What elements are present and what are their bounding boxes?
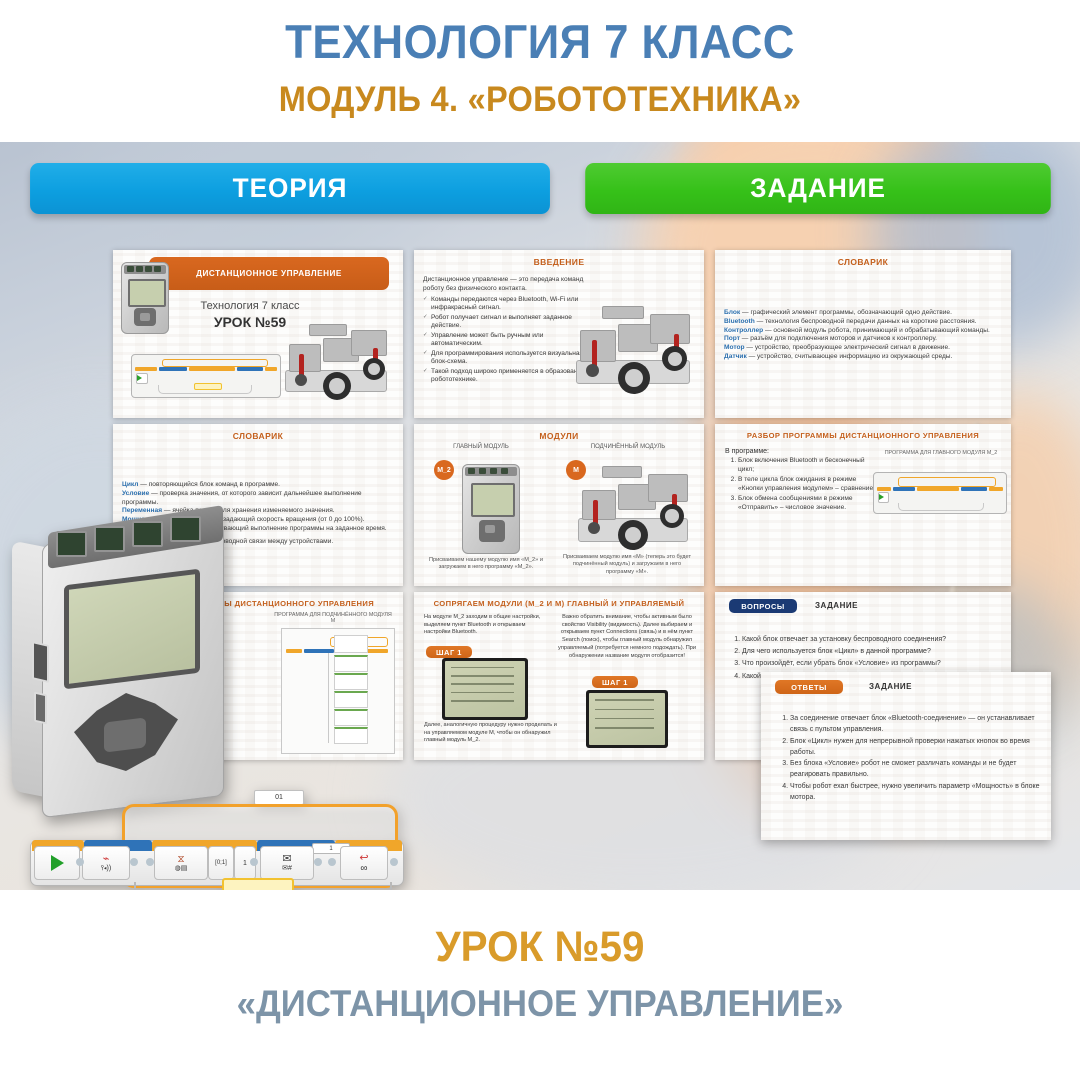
slide-title-course: Технология 7 класс: [175, 300, 325, 312]
glossary-entry: Датчик — устройство, считывающее информа…: [724, 353, 1002, 362]
robot-illustration: [281, 318, 393, 403]
program-diagram-slave: [281, 628, 395, 754]
slide-intro-bullets: Команды передаются через Bluetooth, Wi-F…: [423, 296, 591, 386]
list-item: Чтобы робот ехал быстрее, нужно увеличит…: [790, 782, 1051, 804]
slide-pairing-right-text: Важно обратить внимание, чтобы активным …: [558, 614, 696, 660]
message-number-icon: ✉#: [282, 865, 292, 872]
ev3-brick-main-icon: [462, 464, 520, 554]
program-ribbon-mini: [131, 354, 281, 398]
list-item: Такой подход широко применяется в образо…: [423, 368, 591, 386]
robot-illustration: [574, 462, 692, 554]
slide-intro-lead: Дистанционное управление — это передача …: [423, 276, 591, 294]
program-diagram-main: [873, 472, 1007, 514]
slide-program-main-diagram-caption: ПРОГРАММА ДЛЯ ГЛАВНОГО МОДУЛЯ M_2: [881, 450, 1001, 456]
page-title: ТЕХНОЛОГИЯ 7 КЛАСС: [38, 14, 1042, 69]
slide-card-glossary-1[interactable]: СЛОВАРИК Блок — графический элемент прог…: [715, 250, 1011, 418]
footer-lesson-number: УРОК №59: [32, 923, 1047, 972]
footer-lesson-title: «ДИСТАНЦИОННОЕ УПРАВЛЕНИЕ»: [32, 983, 1047, 1025]
questions-badge: ВОПРОСЫ: [729, 599, 797, 613]
answers-list: За соединение отвечает блок «Bluetooth-с…: [777, 714, 1051, 805]
answers-badge-label: ОТВЕТЫ: [791, 683, 827, 692]
slide-modules-left-caption: Присваиваем нашему модулю имя «M_2» и за…: [426, 557, 546, 572]
answers-tab-label: ЗАДАНИЕ: [869, 682, 912, 691]
list-item: Блок обмена сообщениями в режиме «Отправ…: [738, 495, 875, 513]
infinity-icon: ∞: [360, 864, 367, 874]
slide-title-banner-label: ДИСТАНЦИОННОЕ УПРАВЛЕНИЕ: [196, 269, 342, 278]
list-item: Для чего используется блок «Цикл» в данн…: [742, 646, 1010, 657]
glossary-entry: Контроллер — основной модуль робота, при…: [724, 327, 1002, 336]
list-item: Управление может быть ручным или автомат…: [423, 332, 591, 350]
tab-theory[interactable]: ТЕОРИЯ: [30, 163, 550, 214]
step-badge-1: ШАГ 1: [426, 646, 472, 658]
list-item: Блок «Цикл» нужен для непрерывной провер…: [790, 737, 1051, 759]
list-item: Что произойдёт, если убрать блок «Услови…: [742, 658, 1010, 669]
footer: УРОК №59 «ДИСТАНЦИОННОЕ УПРАВЛЕНИЕ»: [0, 890, 1080, 1080]
glossary-entry: Порт — разъём для подключения моторов и …: [724, 335, 1002, 344]
header: ТЕХНОЛОГИЯ 7 КЛАСС МОДУЛЬ 4. «РОБОТОТЕХН…: [0, 0, 1080, 142]
envelope-icon: ✉: [282, 854, 291, 865]
list-item: За соединение отвечает блок «Bluetooth-с…: [790, 714, 1051, 736]
hourglass-icon: ⧖: [177, 855, 184, 865]
glossary-entry: Цикл — повторяющийся блок команд в прогр…: [122, 481, 394, 490]
loop-block[interactable]: ↩ ∞: [340, 846, 388, 880]
slide-intro-title: ВВЕДЕНИЕ: [414, 250, 704, 267]
slide-program-slave-diagram-caption: ПРОГРАММА ДЛЯ ПОДЧИНЁННОГО МОДУЛЯ M: [273, 612, 393, 624]
slide-program-main-lead: В программе:: [725, 448, 875, 455]
slide-modules-left-label: ГЛАВНЫЙ МОДУЛЬ: [426, 444, 536, 450]
answers-badge: ОТВЕТЫ: [775, 680, 843, 694]
questions-tab-label: ЗАДАНИЕ: [815, 601, 858, 610]
list-item: В теле цикла блок ожидания в режиме «Кно…: [738, 476, 875, 494]
slide-card-answers[interactable]: ОТВЕТЫ ЗАДАНИЕ За соединение отвечает бл…: [761, 672, 1051, 840]
ev3-brick-icon: [121, 262, 169, 334]
step-badge-1-label: ШАГ 1: [436, 648, 462, 657]
lesson-poster: ТЕХНОЛОГИЯ 7 КЛАСС МОДУЛЬ 4. «РОБОТОТЕХН…: [0, 0, 1080, 1080]
wait-range-field[interactable]: [0;1]: [208, 846, 234, 880]
bluetooth-block[interactable]: ⌁ ⫯◂)): [82, 846, 130, 880]
glossary-entry: Мотор — устройство, преобразующее электр…: [724, 344, 1002, 353]
list-item: Без блока «Условие» робот не сможет разл…: [790, 759, 1051, 781]
glossary-entry: Bluetooth — технология беспроводной пере…: [724, 318, 1002, 327]
robot-illustration: [572, 302, 696, 398]
ev3-program-strip: 01 1 ⌁ ⫯◂)) ⧖ ◍▤ [0;1] 1 ✉ ✉# ↩ ∞: [22, 790, 410, 900]
message-block[interactable]: ✉ ✉#: [260, 846, 314, 880]
start-block[interactable]: [34, 846, 80, 880]
slide-card-modules[interactable]: МОДУЛИ ГЛАВНЫЙ МОДУЛЬ ПОДЧИНЁННЫЙ МОДУЛЬ…: [414, 424, 704, 586]
tab-task-label: ЗАДАНИЕ: [750, 173, 886, 204]
ev3-brick-large: [12, 515, 240, 815]
slide-modules-title: МОДУЛИ: [414, 424, 704, 441]
slide-pairing-bottom-text: Далее, аналогичную процедуру нужно проде…: [424, 722, 564, 745]
bluetooth-icon: ⌁: [103, 854, 110, 865]
list-item: Робот получает сигнал и выполняет заданн…: [423, 314, 591, 332]
page-subtitle: МОДУЛЬ 4. «РОБОТОТЕХНИКА»: [38, 80, 1042, 120]
wait-block[interactable]: ⧖ ◍▤: [154, 846, 208, 880]
slide-title-banner: ДИСТАНЦИОННОЕ УПРАВЛЕНИЕ: [149, 257, 389, 290]
ev3-screen-photo-1: [442, 658, 528, 720]
slide-glossary1-title: СЛОВАРИК: [715, 250, 1011, 267]
step-badge-2: ШАГ 1: [592, 676, 638, 688]
ev3-screen-photo-2: [586, 690, 668, 748]
slide-modules-right-label: ПОДЧИНЁННЫЙ МОДУЛЬ: [562, 444, 694, 450]
loop-arrow-icon: ↩: [359, 853, 368, 864]
slide-card-title[interactable]: ДИСТАНЦИОННОЕ УПРАВЛЕНИЕ Технология 7 кл…: [113, 250, 403, 418]
slide-glossary2-title: СЛОВАРИК: [113, 424, 403, 441]
glossary-entry: Условие — проверка значения, от которого…: [122, 490, 394, 508]
slide-modules-right-caption: Присваиваем модулю имя «M» (теперь это б…: [560, 554, 694, 576]
slide-program-main-items: Блок включения Bluetooth и бесконечный ц…: [725, 457, 875, 513]
tab-bar: ТЕОРИЯ ЗАДАНИЕ: [0, 163, 1080, 221]
slide-pairing-title: СОПРЯГАЕМ МОДУЛИ (M_2 И M) ГЛАВНЫЙ И УПР…: [414, 592, 704, 608]
list-item: Для программирования используется визуал…: [423, 350, 591, 368]
slide-card-pairing[interactable]: СОПРЯГАЕМ МОДУЛИ (M_2 И M) ГЛАВНЫЙ И УПР…: [414, 592, 704, 760]
list-item: Какой блок отвечает за установку беспров…: [742, 634, 1010, 645]
step-badge-2-label: ШАГ 1: [602, 678, 628, 687]
play-icon: [51, 855, 64, 871]
glossary-entry: Блок — графический элемент программы, об…: [724, 309, 1002, 318]
program-tab-label: 01: [254, 790, 304, 805]
list-item: Команды передаются через Bluetooth, Wi-F…: [423, 296, 591, 314]
tab-theory-label: ТЕОРИЯ: [233, 173, 348, 204]
bluetooth-on-icon: ⫯◂)): [101, 865, 111, 872]
slide-card-intro[interactable]: ВВЕДЕНИЕ Дистанционное управление — это …: [414, 250, 704, 418]
compare-icon: ◍▤: [175, 865, 188, 872]
questions-badge-label: ВОПРОСЫ: [741, 602, 784, 611]
tab-task[interactable]: ЗАДАНИЕ: [585, 163, 1051, 214]
slide-card-program-main[interactable]: РАЗБОР ПРОГРАММЫ ДИСТАНЦИОННОГО УПРАВЛЕН…: [715, 424, 1011, 586]
module-badge-main: M_2: [434, 460, 454, 480]
slide-program-main-title: РАЗБОР ПРОГРАММЫ ДИСТАНЦИОННОГО УПРАВЛЕН…: [715, 424, 1011, 440]
list-item: Блок включения Bluetooth и бесконечный ц…: [738, 457, 875, 475]
slide-pairing-left-text: На модуле M_2 заходим в общие настройки,…: [424, 614, 552, 637]
